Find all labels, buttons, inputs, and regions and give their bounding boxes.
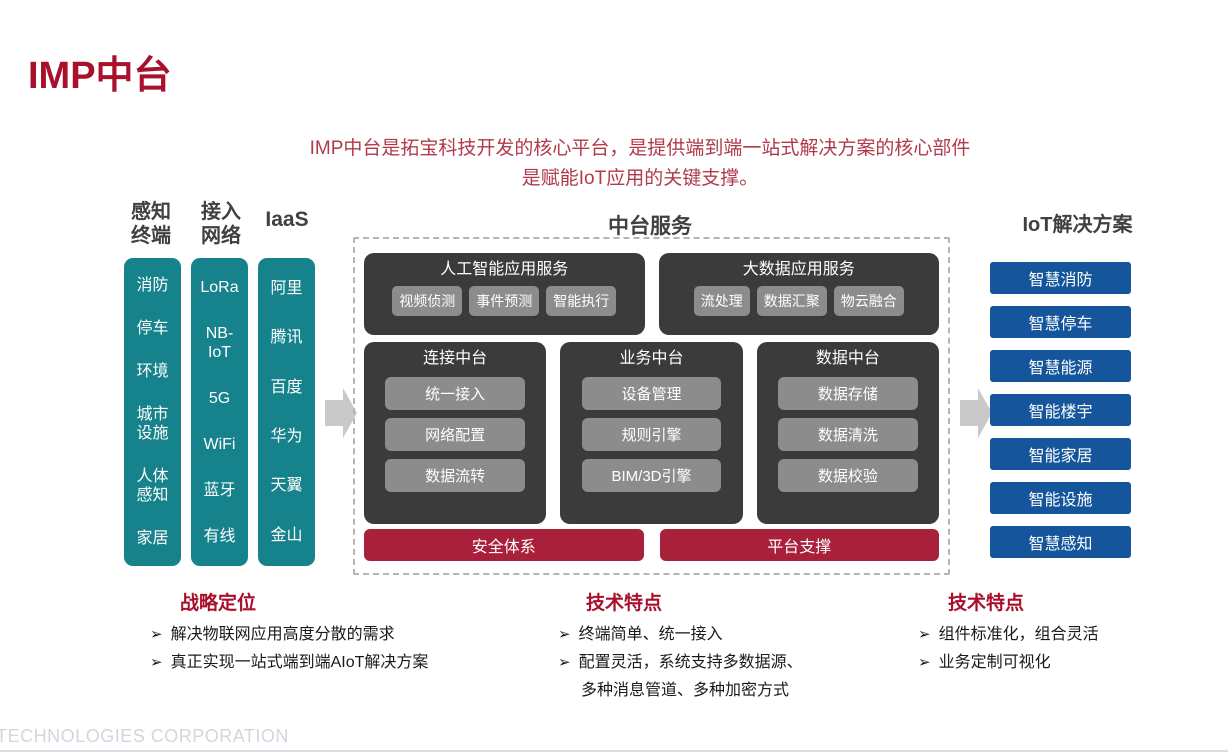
list-item: 城市 设施 — [136, 405, 168, 443]
pill-button[interactable]: BIM/3D引擎 — [582, 459, 722, 492]
arrow-right-icon — [960, 388, 992, 438]
note-bullet: ➢ 解决物联网应用高度分散的需求 — [150, 621, 428, 649]
card-pill-column: 统一接入 网络配置 数据流转 — [372, 377, 538, 492]
note-bullet: ➢ 终端简单、统一接入 — [558, 621, 803, 649]
card-pill-row: 流处理 数据汇聚 物云融合 — [667, 286, 932, 316]
solution-item[interactable]: 智能楼宇 — [990, 394, 1131, 426]
list-item: 环境 — [136, 362, 168, 381]
note-bullet: ➢ 真正实现一站式端到端AIoT解决方案 — [150, 649, 428, 677]
subtitle-line-2: 是赋能IoT应用的关键支撑。 — [160, 164, 1120, 194]
ai-application-service-card: 人工智能应用服务 视频侦测 事件预测 智能执行 — [364, 253, 645, 335]
note-text: 配置灵活，系统支持多数据源、 — [579, 649, 803, 677]
card-title: 人工智能应用服务 — [440, 259, 568, 281]
list-item: 消防 — [136, 276, 168, 295]
list-item: 家居 — [136, 529, 168, 548]
bullet-arrow-icon: ➢ — [558, 649, 571, 677]
note-text-continuation: 多种消息管道、多种加密方式 — [558, 677, 803, 705]
solution-item[interactable]: 智慧感知 — [990, 526, 1131, 558]
solution-item[interactable]: 智能家居 — [990, 438, 1131, 470]
application-services-row: 人工智能应用服务 视频侦测 事件预测 智能执行 大数据应用服务 流处理 数据汇聚… — [364, 253, 939, 335]
bullet-arrow-icon: ➢ — [918, 621, 931, 649]
data-platform-card: 数据中台 数据存储 数据清洗 数据校验 — [757, 342, 939, 524]
center-services-title: 中台服务 — [560, 210, 740, 240]
pill-button[interactable]: 统一接入 — [385, 377, 525, 410]
note-text: 终端简单、统一接入 — [579, 621, 723, 649]
pill-button[interactable]: 规则引擎 — [582, 418, 722, 451]
note-technical-features-right: 技术特点 ➢ 组件标准化，组合灵活 ➢ 业务定制可视化 — [918, 588, 1099, 677]
card-pill-column: 数据存储 数据清洗 数据校验 — [765, 377, 931, 492]
list-item: 蓝牙 — [203, 481, 235, 500]
card-title: 大数据应用服务 — [743, 259, 855, 281]
list-item: 有线 — [203, 527, 235, 546]
bullet-arrow-icon: ➢ — [558, 621, 571, 649]
note-bullet: ➢ 组件标准化，组合灵活 — [918, 621, 1099, 649]
list-item: NB- IoT — [206, 324, 234, 362]
note-bullet: ➢ 业务定制可视化 — [918, 649, 1099, 677]
middle-platform-row: 连接中台 统一接入 网络配置 数据流转 业务中台 设备管理 规则引擎 BIM/3… — [364, 342, 939, 524]
pill-button[interactable]: 网络配置 — [385, 418, 525, 451]
pill-button[interactable]: 数据流转 — [385, 459, 525, 492]
note-text: 业务定制可视化 — [939, 649, 1051, 677]
note-strategic-positioning: 战略定位 ➢ 解决物联网应用高度分散的需求 ➢ 真正实现一站式端到端AIoT解决… — [150, 588, 428, 677]
sensing-terminal-column: 消防 停车 环境 城市 设施 人体 感知 家居 — [124, 258, 181, 566]
security-system-bar[interactable]: 安全体系 — [364, 529, 644, 561]
column-header-access-network: 接入 网络 — [188, 200, 254, 248]
solution-item[interactable]: 智慧停车 — [990, 306, 1131, 338]
iot-solutions-list: 智慧消防 智慧停车 智慧能源 智能楼宇 智能家居 智能设施 智慧感知 — [990, 262, 1131, 570]
note-text: 解决物联网应用高度分散的需求 — [171, 621, 395, 649]
list-item: 金山 — [270, 526, 302, 545]
note-technical-features-center: 技术特点 ➢ 终端简单、统一接入 ➢ 配置灵活，系统支持多数据源、 多种消息管道… — [558, 588, 803, 705]
page-title: IMP中台 — [28, 44, 172, 99]
list-item: 阿里 — [270, 279, 302, 298]
list-item: 华为 — [270, 427, 302, 446]
list-item: WiFi — [204, 435, 236, 454]
pill-button[interactable]: 物云融合 — [834, 286, 904, 316]
solution-item[interactable]: 智能设施 — [990, 482, 1131, 514]
list-item: 天翼 — [270, 476, 302, 495]
corporate-footer-text: BO TECHNOLOGIES CORPORATION — [0, 726, 289, 747]
card-title: 业务中台 — [619, 348, 683, 370]
column-header-iot-solutions: IoT解决方案 — [965, 213, 1190, 237]
list-item: 人体 感知 — [136, 467, 168, 505]
iaas-column: 阿里 腾讯 百度 华为 天翼 金山 — [258, 258, 315, 566]
card-title: 数据中台 — [816, 348, 880, 370]
big-data-application-service-card: 大数据应用服务 流处理 数据汇聚 物云融合 — [659, 253, 940, 335]
bullet-arrow-icon: ➢ — [918, 649, 931, 677]
pill-button[interactable]: 数据存储 — [778, 377, 918, 410]
pill-button[interactable]: 事件预测 — [469, 286, 539, 316]
pill-button[interactable]: 视频侦测 — [392, 286, 462, 316]
note-text: 组件标准化，组合灵活 — [939, 621, 1099, 649]
pill-button[interactable]: 智能执行 — [546, 286, 616, 316]
access-network-column: LoRa NB- IoT 5G WiFi 蓝牙 有线 — [191, 258, 248, 566]
pill-button[interactable]: 数据汇聚 — [757, 286, 827, 316]
card-pill-column: 设备管理 规则引擎 BIM/3D引擎 — [568, 377, 734, 492]
solution-item[interactable]: 智慧能源 — [990, 350, 1131, 382]
note-title: 技术特点 — [558, 588, 803, 615]
card-pill-row: 视频侦测 事件预测 智能执行 — [372, 286, 637, 316]
note-title: 技术特点 — [918, 588, 1099, 615]
list-item: 腾讯 — [270, 328, 302, 347]
business-platform-card: 业务中台 设备管理 规则引擎 BIM/3D引擎 — [560, 342, 742, 524]
card-title: 连接中台 — [423, 348, 487, 370]
list-item: 5G — [209, 389, 230, 408]
list-item: 停车 — [136, 319, 168, 338]
pill-button[interactable]: 数据清洗 — [778, 418, 918, 451]
note-text: 真正实现一站式端到端AIoT解决方案 — [171, 649, 429, 677]
column-header-sensing-terminal: 感知 终端 — [118, 200, 184, 248]
bullet-arrow-icon: ➢ — [150, 649, 163, 677]
subtitle-line-1: IMP中台是拓宝科技开发的核心平台，是提供端到端一站式解决方案的核心部件 — [160, 134, 1120, 164]
note-title: 战略定位 — [150, 588, 428, 615]
pill-button[interactable]: 设备管理 — [582, 377, 722, 410]
list-item: LoRa — [200, 278, 238, 297]
column-header-iaas: IaaS — [254, 208, 320, 232]
bullet-arrow-icon: ➢ — [150, 621, 163, 649]
pill-button[interactable]: 数据校验 — [778, 459, 918, 492]
platform-support-bar[interactable]: 平台支撑 — [660, 529, 940, 561]
connection-platform-card: 连接中台 统一接入 网络配置 数据流转 — [364, 342, 546, 524]
foundation-bars-row: 安全体系 平台支撑 — [364, 529, 939, 561]
subtitle: IMP中台是拓宝科技开发的核心平台，是提供端到端一站式解决方案的核心部件 是赋能… — [160, 134, 1120, 194]
solution-item[interactable]: 智慧消防 — [990, 262, 1131, 294]
note-bullet: ➢ 配置灵活，系统支持多数据源、 — [558, 649, 803, 677]
pill-button[interactable]: 流处理 — [694, 286, 750, 316]
list-item: 百度 — [270, 378, 302, 397]
